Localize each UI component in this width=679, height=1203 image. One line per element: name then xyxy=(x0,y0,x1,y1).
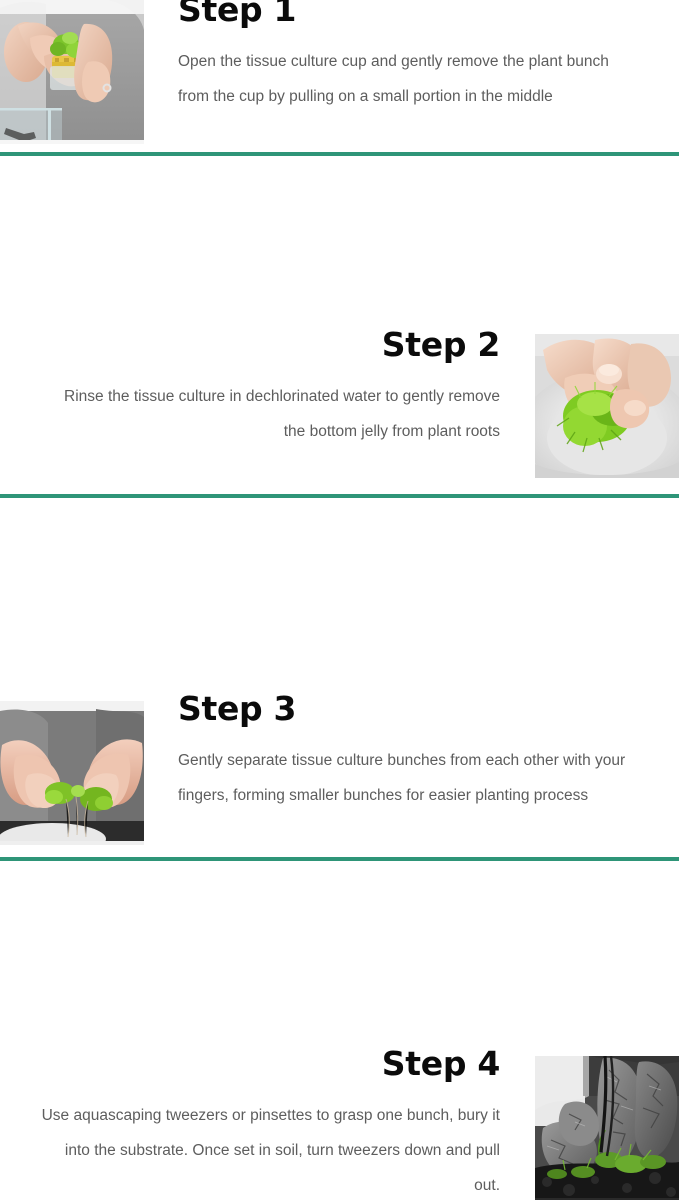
step-4-text: Step 4 Use aquascaping tweezers or pinse… xyxy=(40,1047,500,1203)
step-1-photo xyxy=(0,0,144,144)
step-3-photo xyxy=(0,701,144,845)
step-4-photo xyxy=(535,1056,679,1200)
step-block-1: Step 1 Open the tissue culture cup and g… xyxy=(0,0,679,156)
step-block-4: Step 4 Use aquascaping tweezers or pinse… xyxy=(0,519,679,683)
step-4-title: Step 4 xyxy=(40,1047,500,1082)
step-block-2: Step 2 Rinse the tissue culture in dechl… xyxy=(0,156,679,342)
step-divider-3 xyxy=(0,857,679,861)
step-1-title: Step 1 xyxy=(178,0,638,28)
step-3-body: Gently separate tissue culture bunches f… xyxy=(178,743,638,813)
step-4-body: Use aquascaping tweezers or pinsettes to… xyxy=(40,1098,500,1203)
step-1-text: Step 1 Open the tissue culture cup and g… xyxy=(178,0,638,114)
step-block-3: Step 3 Gently separate tissue culture bu… xyxy=(0,342,679,519)
step-3-title: Step 3 xyxy=(178,692,638,727)
step-3-text: Step 3 Gently separate tissue culture bu… xyxy=(178,692,638,813)
tissue-culture-steps-guide: Step 1 Open the tissue culture cup and g… xyxy=(0,0,679,683)
step-1-body: Open the tissue culture cup and gently r… xyxy=(178,44,638,114)
